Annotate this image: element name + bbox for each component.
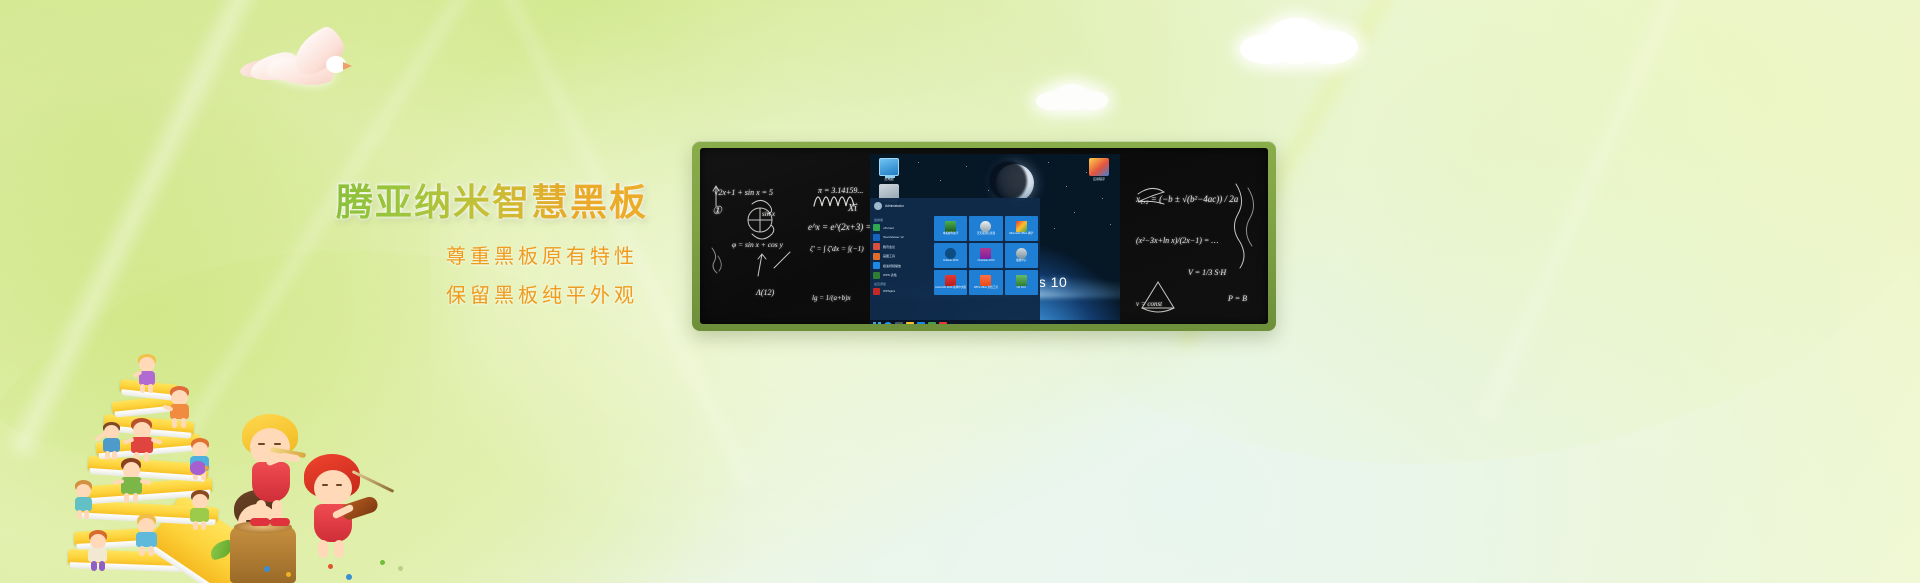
windows-taskbar[interactable]: 15:42 [870, 320, 1120, 324]
app-label: 极速视频播放 [883, 264, 901, 268]
app-icon [873, 288, 880, 295]
windows-screen: Windows 10 此电脑 回收站 应用程序 Adm [870, 154, 1120, 324]
cloud-icon [1240, 18, 1360, 64]
start-menu[interactable]: Administrator 最常用 uTorrent TeamViewer 12 [870, 198, 1040, 320]
app-icon [873, 253, 880, 260]
search-icon[interactable] [884, 322, 892, 324]
decor-dot [398, 566, 403, 571]
desktop-icon-app[interactable]: 应用程序 [1082, 158, 1116, 181]
tile-label: NX 10.0 [1017, 287, 1026, 290]
decor-dot [264, 566, 270, 572]
app-label: WPS 表格 [883, 273, 897, 277]
nx-icon [1016, 275, 1027, 286]
start-tile[interactable]: 播放中心 [1005, 243, 1038, 268]
outlook-icon [945, 248, 956, 259]
tile-label: OneNote 2013 [978, 260, 995, 263]
promo-banner: 腾亚纳米智慧黑板 尊重黑板原有特性 保留黑板纯平外观 √2x+1 + sin x… [0, 0, 1920, 583]
start-button-icon[interactable] [873, 322, 881, 324]
monitor-icon [879, 158, 899, 176]
start-tile[interactable]: AutoCAD 2016 简体中文版 [934, 270, 967, 295]
onenote-icon [980, 248, 991, 259]
children-illustration [40, 366, 400, 583]
file-explorer-icon[interactable] [906, 322, 914, 324]
app-group-label: 最近添加 [874, 282, 929, 286]
volume-icon[interactable] [1096, 324, 1101, 325]
app-group-label: 最常用 [874, 218, 929, 222]
start-menu-item[interactable]: WPS 表格 [873, 272, 929, 279]
decor-dot [286, 572, 291, 577]
start-tile[interactable]: NX 10.0 [1005, 270, 1038, 295]
user-name: Administrator [885, 204, 904, 208]
start-tile[interactable]: OneNote 2013 [969, 243, 1002, 268]
tile-label: AutoCAD 2016 简体中文版 [935, 287, 966, 290]
app-icon [873, 272, 880, 279]
start-menu-tiles[interactable]: 本机邮件助手 天天取款记录器 Microsoft Office 教学 [932, 213, 1040, 320]
start-menu-item[interactable]: uTorrent [873, 224, 929, 231]
desktop-icon-this-pc[interactable]: 此电脑 [872, 158, 906, 181]
tile-label: Microsoft Office 教学 [1009, 233, 1033, 236]
media-icon [1016, 248, 1027, 259]
subtitle-line-2: 保留黑板纯平外观 [336, 286, 696, 306]
start-menu-item[interactable]: TeamViewer 12 [873, 234, 929, 241]
start-menu-item[interactable]: 腾讯会议 [873, 243, 929, 250]
office-icon [1016, 221, 1027, 232]
flute-girl [236, 414, 308, 532]
start-menu-app-list[interactable]: 最常用 uTorrent TeamViewer 12 [870, 213, 932, 320]
tile-label: 天天取款记录器 [977, 233, 995, 236]
tile-label: 本机邮件助手 [943, 233, 959, 236]
start-menu-item[interactable]: 画图工具 [873, 253, 929, 260]
start-tile[interactable]: 天天取款记录器 [969, 216, 1002, 241]
app-label: 腾讯会议 [883, 245, 895, 249]
battery-icon[interactable] [1103, 324, 1108, 325]
subtitle-line-1: 尊重黑板原有特性 [336, 247, 696, 267]
cloud-icon [1036, 84, 1110, 110]
start-menu-item[interactable]: WPSpics [873, 288, 929, 295]
network-icon[interactable] [1089, 324, 1094, 325]
task-view-icon[interactable] [895, 322, 903, 324]
wps-icon [980, 275, 991, 286]
dove-icon [240, 30, 350, 100]
start-tile[interactable]: WPS office 文档工具 [969, 270, 1002, 295]
app-icon [1089, 158, 1109, 176]
system-tray[interactable]: 15:42 [1089, 324, 1117, 325]
desktop-icon-label: 应用程序 [1082, 178, 1116, 181]
blackboard-surface: √2x+1 + sin x = 5 π = 3.14159... ① sin x… [700, 148, 1268, 324]
start-tile[interactable]: 本机邮件助手 [934, 216, 967, 241]
page-title: 腾亚纳米智慧黑板 [336, 182, 696, 225]
moon-graphic [996, 164, 1034, 202]
desktop-icon-label: 此电脑 [872, 178, 906, 181]
app-icon[interactable] [939, 322, 947, 324]
app-icon [873, 243, 880, 250]
app-label: WPSpics [883, 289, 895, 293]
decor-dot [346, 574, 352, 580]
bird-icon [190, 461, 206, 475]
decor-dot [328, 564, 333, 569]
app-label: 画图工具 [883, 254, 895, 258]
app-label: TeamViewer 12 [883, 235, 904, 239]
tile-label: 播放中心 [1016, 260, 1026, 263]
start-menu-user[interactable]: Administrator [870, 198, 1040, 213]
app-icon [873, 262, 880, 269]
tile-label: Outlook 2013 [943, 260, 958, 263]
start-tile[interactable]: Microsoft Office 教学 [1005, 216, 1038, 241]
decor-dot [380, 560, 385, 565]
chalk-sketch-right [1128, 174, 1268, 324]
app-icon [873, 224, 880, 231]
tile-label: WPS office 文档工具 [974, 287, 998, 290]
ufo-icon [980, 221, 991, 232]
start-menu-item[interactable]: 极速视频播放 [873, 262, 929, 269]
smart-blackboard-device: √2x+1 + sin x = 5 π = 3.14159... ① sin x… [692, 141, 1276, 331]
tree-icon [945, 221, 956, 232]
start-tile[interactable]: Outlook 2013 [934, 243, 967, 268]
promo-text-block: 腾亚纳米智慧黑板 尊重黑板原有特性 保留黑板纯平外观 [336, 182, 696, 306]
chalk-wave-sketch [812, 184, 872, 212]
edge-icon[interactable] [917, 322, 925, 324]
app-label: uTorrent [883, 226, 894, 230]
store-icon[interactable] [928, 322, 936, 324]
violin-girl [302, 454, 398, 564]
app-icon [873, 234, 880, 241]
avatar [874, 202, 882, 210]
autocad-icon [945, 275, 956, 286]
